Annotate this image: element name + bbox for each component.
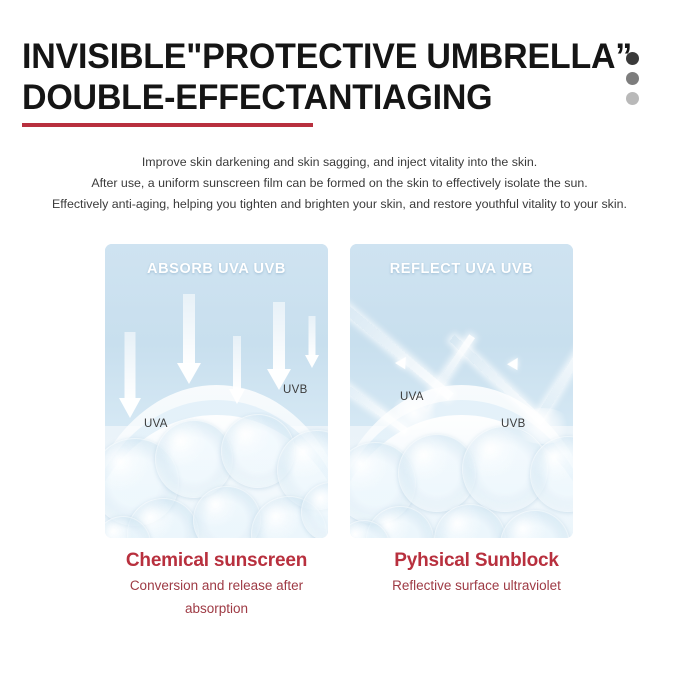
title-line-2: DOUBLE-EFFECTANTIAGING: [22, 77, 604, 118]
caption-physical: Pyhsical Sunblock Reflective surface ult…: [345, 548, 608, 597]
intro-line-1: Improve skin darkening and skin sagging,…: [0, 152, 679, 173]
caption-physical-title: Pyhsical Sunblock: [345, 548, 608, 574]
label-uva-reflect: UVA: [400, 391, 424, 403]
uv-arrow-down: [305, 316, 318, 368]
comparison-panels: ABSORB UVA UVB UVA: [0, 244, 679, 538]
caption-chemical-title: Chemical sunscreen: [85, 548, 348, 574]
uv-arrow-down: [119, 332, 141, 418]
label-uvb-absorb: UVB: [283, 384, 308, 396]
label-uva-absorb: UVA: [144, 418, 168, 430]
page-title: INVISIBLE"PROTECTIVE UMBRELLA” DOUBLE-EF…: [22, 36, 622, 118]
panel-absorb: ABSORB UVA UVB UVA: [105, 244, 328, 538]
label-uvb-reflect: UVB: [501, 418, 526, 430]
bubble-field-absorb: [105, 412, 328, 538]
header: INVISIBLE"PROTECTIVE UMBRELLA” DOUBLE-EF…: [0, 0, 679, 135]
panel-absorb-title: ABSORB UVA UVB: [105, 261, 328, 277]
dot-dark-icon: [626, 52, 639, 65]
bubble: [500, 510, 570, 538]
intro-paragraph: Improve skin darkening and skin sagging,…: [0, 152, 679, 215]
dot-medium-icon: [626, 72, 639, 85]
caption-chemical-sub-1: Conversion and release after: [85, 574, 348, 597]
caption-chemical-sub-2: absorption: [85, 597, 348, 620]
intro-line-2: After use, a uniform sunscreen film can …: [0, 173, 679, 194]
panel-reflect: REFLECT UVA UVB UVA UVB: [350, 244, 573, 538]
panel-reflect-title: REFLECT UVA UVB: [350, 261, 573, 277]
uv-arrow-down: [229, 336, 245, 404]
dot-light-icon: [626, 92, 639, 105]
intro-line-3: Effectively anti-aging, helping you tigh…: [0, 194, 679, 215]
title-line-1: INVISIBLE"PROTECTIVE UMBRELLA”: [22, 36, 604, 77]
title-underline-rule: [22, 123, 313, 127]
decorative-dots: [626, 52, 644, 112]
caption-chemical: Chemical sunscreen Conversion and releas…: [85, 548, 348, 620]
uv-arrow-down: [177, 294, 201, 384]
uv-arrow-down: [267, 302, 290, 390]
infographic-page: INVISIBLE"PROTECTIVE UMBRELLA” DOUBLE-EF…: [0, 0, 679, 679]
caption-physical-sub-1: Reflective surface ultraviolet: [345, 574, 608, 597]
